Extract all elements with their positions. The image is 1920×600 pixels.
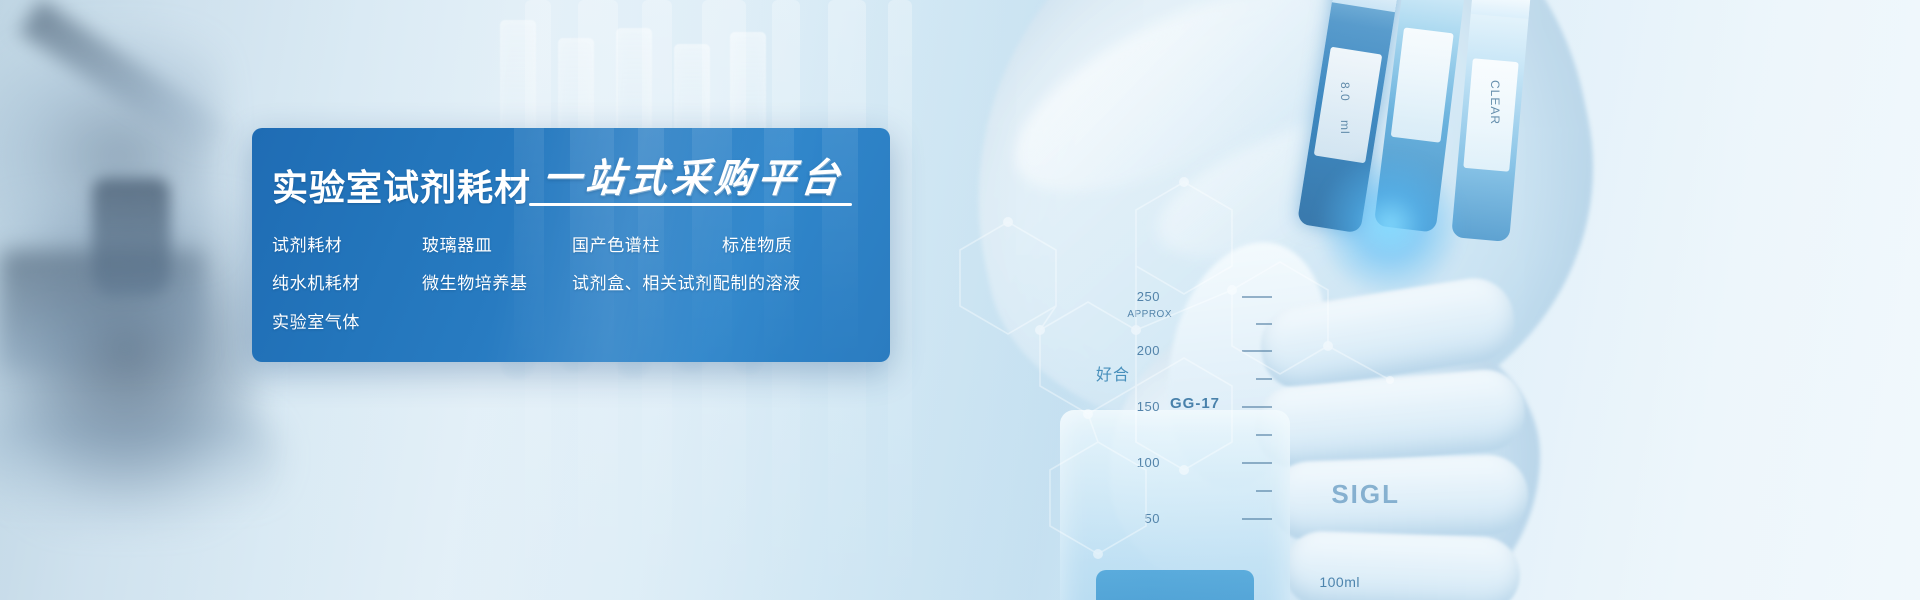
category-list: 试剂耗材 玻璃器皿 国产色谱柱 标准物质 纯水机耗材 微生物培养基 试剂盒、相关… bbox=[272, 236, 890, 333]
category-link-microbial-culture-media[interactable]: 微生物培养基 bbox=[422, 274, 572, 294]
category-row: 纯水机耗材 微生物培养基 试剂盒、相关试剂配制的溶液 bbox=[272, 274, 890, 294]
category-row: 试剂耗材 玻璃器皿 国产色谱柱 标准物质 bbox=[272, 236, 890, 256]
category-link-reagent-consumables[interactable]: 试剂耗材 bbox=[272, 236, 422, 256]
category-link-laboratory-gases[interactable]: 实验室气体 bbox=[272, 313, 422, 333]
lab-reagent-banner: 8.0 ml CLEAR 250 APPROX 200 150 100 50 G… bbox=[0, 0, 1920, 600]
glass-streak bbox=[888, 0, 912, 600]
category-link-reagent-kits-solutions[interactable]: 试剂盒、相关试剂配制的溶液 bbox=[572, 274, 801, 294]
category-link-water-purifier-consumables[interactable]: 纯水机耗材 bbox=[272, 274, 422, 294]
molecule-network-graphic bbox=[920, 0, 1920, 600]
headline-accent-group: 一站式采购平台 bbox=[543, 159, 844, 206]
headline-underline bbox=[529, 203, 852, 206]
card-content: 实验室试剂耗材 一站式采购平台 试剂耗材 玻璃器皿 国产色谱柱 标准物质 纯水机… bbox=[252, 128, 890, 362]
promo-card: 实验室试剂耗材 一站式采购平台 试剂耗材 玻璃器皿 国产色谱柱 标准物质 纯水机… bbox=[252, 128, 890, 362]
headline-main-text: 实验室试剂耗材 bbox=[272, 170, 531, 206]
category-link-reference-materials[interactable]: 标准物质 bbox=[722, 236, 792, 256]
category-row: 实验室气体 bbox=[272, 313, 890, 333]
category-link-domestic-chromatography-column[interactable]: 国产色谱柱 bbox=[572, 236, 722, 256]
microscope-lens-blur bbox=[92, 178, 170, 296]
headline-accent-text: 一站式采购平台 bbox=[541, 158, 846, 198]
headline: 实验室试剂耗材 一站式采购平台 bbox=[272, 154, 890, 206]
category-link-glassware[interactable]: 玻璃器皿 bbox=[422, 236, 572, 256]
